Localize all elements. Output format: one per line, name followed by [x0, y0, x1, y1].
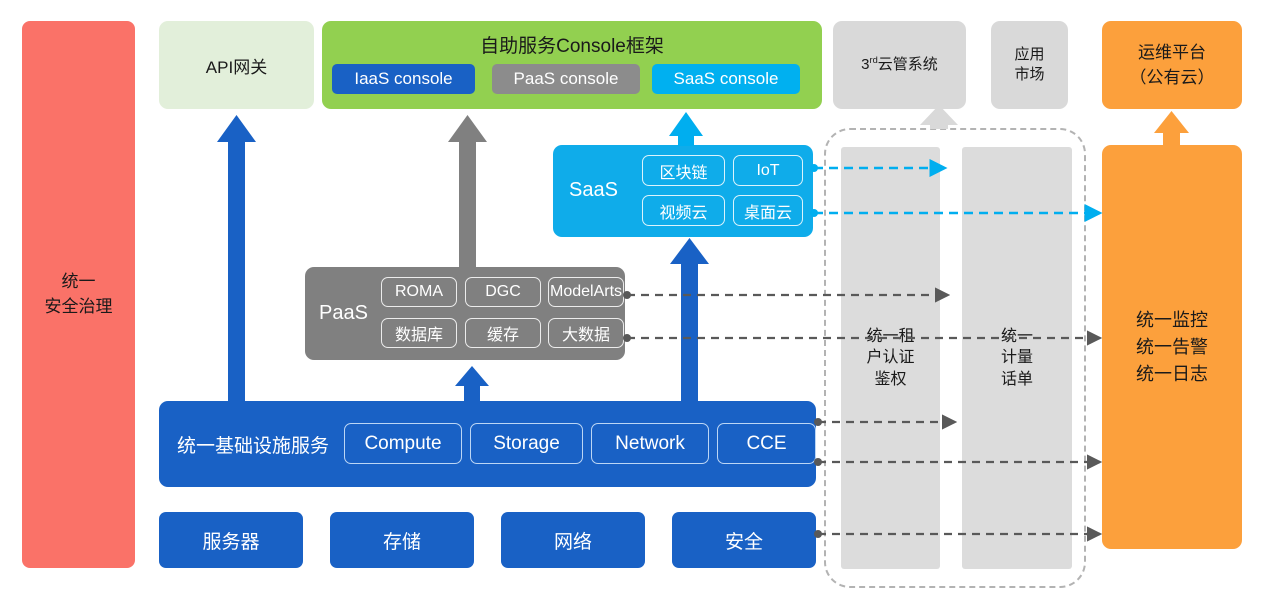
security-governance-panel: 统一 安全治理: [22, 21, 135, 568]
console-chip-saas[interactable]: SaaS console: [652, 64, 800, 94]
architecture-diagram: 统一 安全治理 API网关 自助服务Console框架 IaaS console…: [0, 0, 1265, 605]
paas-service-roma[interactable]: ROMA: [381, 277, 457, 307]
api-gateway-panel: API网关: [159, 21, 314, 109]
ops-platform-line1: 运维平台: [1138, 40, 1206, 66]
saas-service-video-cloud[interactable]: 视频云: [642, 195, 725, 226]
ops-capability-panel: 统一监控 统一告警 统一日志: [1102, 145, 1242, 549]
paas-service-bigdata[interactable]: 大数据: [548, 318, 624, 348]
paas-service-cache[interactable]: 缓存: [465, 318, 541, 348]
infra-service-cce[interactable]: CCE: [717, 423, 816, 464]
infra-service-compute[interactable]: Compute: [344, 423, 462, 464]
paas-service-dgc[interactable]: DGC: [465, 277, 541, 307]
api-gateway-label: API网关: [206, 53, 267, 78]
ops-capability-line2: 统一告警: [1136, 334, 1208, 361]
auth-line1: 统一租: [866, 326, 914, 348]
arrow-infra-to-paas: [455, 366, 489, 401]
paas-layer-panel: PaaS ROMA DGC ModelArts 数据库 缓存 大数据: [305, 267, 625, 360]
shared-service-column-auth: 统一租 户认证 鉴权: [841, 147, 940, 569]
shared-service-column-metering: 统一 计量 话单: [962, 147, 1072, 569]
resource-box-server[interactable]: 服务器: [159, 512, 303, 568]
console-framework-title: 自助服务Console框架: [322, 31, 822, 58]
arrow-paas-to-console: [448, 115, 487, 267]
ops-platform-panel: 运维平台 （公有云）: [1102, 21, 1242, 109]
infra-service-storage[interactable]: Storage: [470, 423, 583, 464]
console-chip-paas[interactable]: PaaS console: [492, 64, 640, 94]
app-market-line2: 市场: [1014, 65, 1044, 85]
infrastructure-panel: 统一基础设施服务 Compute Storage Network CCE: [159, 401, 816, 487]
auth-line2: 户认证: [866, 347, 914, 369]
infra-service-network[interactable]: Network: [591, 423, 709, 464]
metering-line2: 计量: [1001, 347, 1033, 369]
arrow-saas-to-console: [669, 112, 703, 146]
third-party-ordinal: rd: [870, 55, 878, 65]
security-governance-line2: 安全治理: [45, 295, 113, 320]
resource-box-security[interactable]: 安全: [672, 512, 816, 568]
paas-layer-label: PaaS: [319, 302, 368, 325]
saas-service-desktop-cloud[interactable]: 桌面云: [733, 195, 803, 226]
paas-service-modelarts[interactable]: ModelArts: [548, 277, 624, 307]
saas-service-blockchain[interactable]: 区块链: [642, 155, 725, 186]
ops-capability-line1: 统一监控: [1136, 307, 1208, 334]
app-market-panel: 应用 市场: [991, 21, 1068, 109]
ops-capability-line3: 统一日志: [1136, 361, 1208, 388]
saas-service-iot[interactable]: IoT: [733, 155, 803, 186]
third-party-prefix: 3: [861, 56, 869, 73]
arrow-infra-to-api-gateway: [217, 115, 256, 401]
paas-service-database[interactable]: 数据库: [381, 318, 457, 348]
resource-box-storage[interactable]: 存储: [330, 512, 474, 568]
third-party-cloud-mgmt-panel: 3rd云管系统: [833, 21, 966, 109]
saas-layer-panel: SaaS 区块链 IoT 视频云 桌面云: [553, 145, 813, 237]
saas-layer-label: SaaS: [569, 179, 618, 202]
ops-platform-line2: （公有云）: [1130, 65, 1215, 91]
infrastructure-label: 统一基础设施服务: [177, 431, 329, 458]
metering-line3: 话单: [1001, 369, 1033, 391]
third-party-suffix: 云管系统: [878, 56, 938, 73]
third-party-cloud-mgmt-label: 3rd云管系统: [861, 54, 938, 75]
arrow-ops-capability-to-platform: [1154, 111, 1189, 146]
console-framework-panel: 自助服务Console框架 IaaS console PaaS console …: [322, 21, 822, 109]
app-market-line1: 应用: [1014, 45, 1044, 65]
metering-line1: 统一: [1001, 326, 1033, 348]
arrow-infra-to-saas: [670, 238, 709, 401]
auth-line3: 鉴权: [866, 369, 914, 391]
security-governance-line1: 统一: [62, 270, 96, 295]
resource-box-network[interactable]: 网络: [501, 512, 645, 568]
console-chip-iaas[interactable]: IaaS console: [332, 64, 475, 94]
